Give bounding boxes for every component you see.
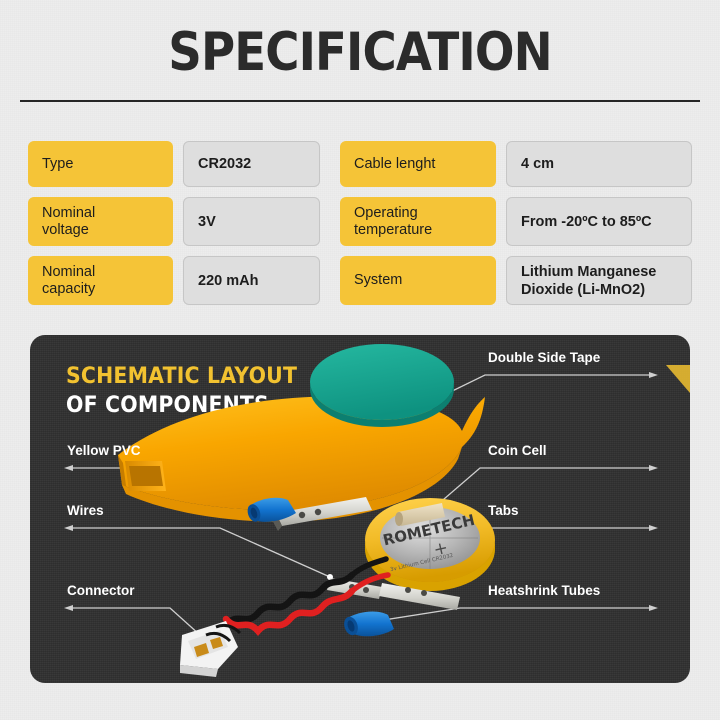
spec-column-left: Type CR2032 Nominal voltage 3V xyxy=(28,141,320,315)
double-side-tape-graphic xyxy=(310,344,454,427)
spec-label-nominal-capacity: Nominal capacity xyxy=(28,256,173,305)
spec-label-text: Nominal voltage xyxy=(42,205,95,239)
spec-label-text: Cable lenght xyxy=(354,156,435,173)
spec-label-text: Nominal capacity xyxy=(42,264,95,298)
spec-value-text: 4 cm xyxy=(521,155,554,173)
spec-value-text: CR2032 xyxy=(198,155,251,173)
spec-value-text: 220 mAh xyxy=(198,272,258,290)
heatshrink-tube-blue-lower xyxy=(342,612,394,638)
spec-label-line2: temperature xyxy=(354,222,432,238)
spec-label-type: Type xyxy=(28,141,173,187)
spec-label-line1: Nominal xyxy=(42,205,95,221)
callout-wires: Wires xyxy=(67,503,104,518)
spec-row: Operating temperature From -20ºC to 85ºC xyxy=(340,197,692,246)
spec-column-right: Cable lenght 4 cm Operating temperature … xyxy=(340,141,692,315)
page-title: SPECIFICATION xyxy=(43,24,677,82)
spec-value-system: Lithium Manganese Dioxide (Li-MnO2) xyxy=(506,256,692,305)
spec-value-operating-temperature: From -20ºC to 85ºC xyxy=(506,197,692,246)
spec-label-line1: Operating xyxy=(354,205,418,221)
spec-value-line2: Dioxide (Li-MnO2) xyxy=(521,282,645,298)
spec-label-nominal-voltage: Nominal voltage xyxy=(28,197,173,246)
callout-double-side-tape: Double Side Tape xyxy=(488,350,600,365)
spec-label-text: Type xyxy=(42,156,73,173)
spec-value-nominal-capacity: 220 mAh xyxy=(183,256,320,305)
callout-tabs: Tabs xyxy=(488,503,519,518)
callout-connector: Connector xyxy=(67,583,135,598)
callout-coin-cell: Coin Cell xyxy=(488,443,547,458)
page-background: SPECIFICATION Type CR2032 Nominal voltag… xyxy=(0,0,720,720)
spec-value-text: 3V xyxy=(198,213,216,231)
spec-value-line1: Lithium Manganese xyxy=(521,264,656,280)
spec-value-nominal-voltage: 3V xyxy=(183,197,320,246)
spec-value-cable-length: 4 cm xyxy=(506,141,692,187)
spec-row: Cable lenght 4 cm xyxy=(340,141,692,187)
spec-label-line2: capacity xyxy=(42,281,95,297)
spec-row: System Lithium Manganese Dioxide (Li-MnO… xyxy=(340,256,692,305)
callout-heatshrink-tubes: Heatshrink Tubes xyxy=(488,583,600,598)
spec-label-cable-length: Cable lenght xyxy=(340,141,496,187)
spec-label-line2: voltage xyxy=(42,222,89,238)
spec-value-type: CR2032 xyxy=(183,141,320,187)
title-divider xyxy=(20,100,700,102)
spec-label-text: System xyxy=(354,272,402,289)
spec-label-line1: Nominal xyxy=(42,264,95,280)
spec-row: Nominal capacity 220 mAh xyxy=(28,256,320,305)
connector-graphic xyxy=(180,621,240,677)
spec-value-text: Lithium Manganese Dioxide (Li-MnO2) xyxy=(521,263,656,299)
spec-row: Type CR2032 xyxy=(28,141,320,187)
schematic-panel: SCHEMATIC LAYOUT OF COMPONENTS xyxy=(30,335,690,683)
callout-yellow-pvc: Yellow PVC xyxy=(67,443,141,458)
spec-row: Nominal voltage 3V xyxy=(28,197,320,246)
spec-label-operating-temperature: Operating temperature xyxy=(340,197,496,246)
spec-label-text: Operating temperature xyxy=(354,205,432,239)
schematic-artwork: ROMETECH + 3v Lithium Cell CR2032 xyxy=(30,335,690,683)
spec-value-text: From -20ºC to 85ºC xyxy=(521,213,652,231)
spec-label-system: System xyxy=(340,256,496,305)
